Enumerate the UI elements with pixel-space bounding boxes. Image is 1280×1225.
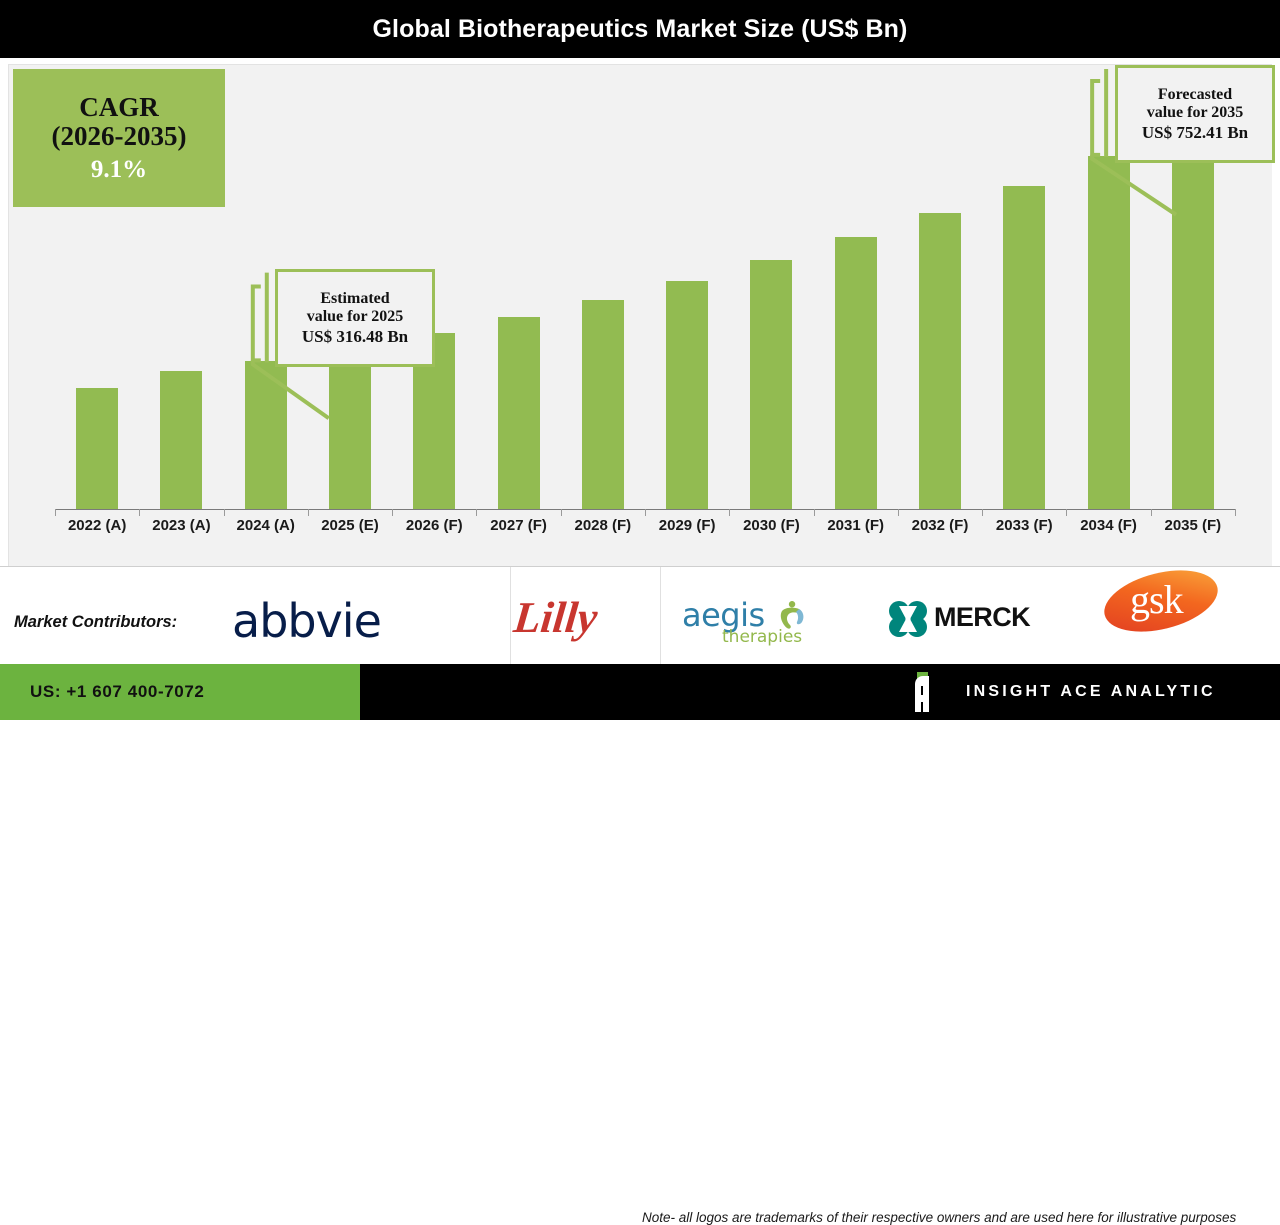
callout-forecast-line2: value for 2035 [1147,104,1244,123]
footer-phone-block: US: +1 607 400-7072 [0,664,360,720]
bar-2025E [329,348,371,509]
x-label-2030F: 2030 (F) [729,517,813,534]
logo-lilly: Lilly [512,596,600,640]
axis-tick [898,509,899,516]
merck-flower-icon [886,599,930,639]
footer-bar: US: +1 607 400-7072 INSIGHT ACE ANALYTIC [0,664,1280,720]
logo-aegis-therapies: aegis therapies [682,597,822,651]
x-label-2024A: 2024 (A) [224,517,308,534]
plot-area: 2022 (A)2023 (A)2024 (A)2025 (E)2026 (F)… [9,65,1272,566]
bar-2030F [750,260,792,509]
x-label-2034F: 2034 (F) [1066,517,1150,534]
x-label-2023A: 2023 (A) [139,517,223,534]
x-label-2033F: 2033 (F) [982,517,1066,534]
bar-2029F [666,281,708,509]
bar-2022A [76,388,118,509]
trademark-note: Note- all logos are trademarks of their … [642,1210,1236,1225]
callout-estimated-line3: US$ 316.48 Bn [302,327,408,347]
bar-2031F [835,237,877,509]
aegis-figure-icon [770,595,810,635]
x-label-2025E: 2025 (E) [308,517,392,534]
callout-estimated-line1: Estimated [320,290,389,309]
footer-brand: INSIGHT ACE ANALYTIC [900,664,1216,720]
axis-tick [1235,509,1236,516]
axis-tick [55,509,56,516]
axis-tick [729,509,730,516]
callout-forecast-line3: US$ 752.41 Bn [1142,123,1248,143]
bar-2028F [582,300,624,509]
axis-tick [392,509,393,516]
bar-2033F [1003,186,1045,509]
x-label-2032F: 2032 (F) [898,517,982,534]
market-contributors-label: Market Contributors: [14,613,177,632]
axis-tick [1151,509,1152,516]
axis-tick [1066,509,1067,516]
x-label-2031F: 2031 (F) [814,517,898,534]
axis-tick [476,509,477,516]
bar-2024A [245,361,287,509]
chart-panel: CAGR (2026-2035) 9.1% 2022 (A)2023 (A)20… [0,58,1280,566]
footer-brand-name: INSIGHT ACE ANALYTIC [966,683,1216,701]
callout-estimated-line2: value for 2025 [307,308,404,327]
logo-abbvie: abbvie [232,598,381,644]
x-label-2022A: 2022 (A) [55,517,139,534]
axis-tick [982,509,983,516]
logo-divider [660,567,661,665]
x-label-2027F: 2027 (F) [476,517,560,534]
merck-wordmark: MERCK [934,604,1030,631]
gsk-wordmark: gsk [1130,580,1183,620]
x-label-2029F: 2029 (F) [645,517,729,534]
page-title: Global Biotherapeutics Market Size (US$ … [373,15,908,44]
logo-gsk: gsk [1101,570,1221,632]
bar-2032F [919,213,961,509]
infographic-root: Global Biotherapeutics Market Size (US$ … [0,0,1280,720]
x-label-2035F: 2035 (F) [1151,517,1235,534]
axis-tick [308,509,309,516]
footer-phone[interactable]: US: +1 607 400-7072 [30,682,204,702]
callout-forecast-line1: Forecasted [1158,86,1232,105]
title-bar: Global Biotherapeutics Market Size (US$ … [0,0,1280,58]
axis-tick [224,509,225,516]
logo-divider [510,567,511,665]
insight-ace-logo-icon [900,670,944,714]
axis-tick [561,509,562,516]
bar-2034F [1088,156,1130,509]
bar-series [55,65,1235,509]
axis-tick [139,509,140,516]
x-label-2028F: 2028 (F) [561,517,645,534]
axis-tick [645,509,646,516]
callout-estimated-2025: Estimated value for 2025 US$ 316.48 Bn [275,269,435,367]
bar-2027F [498,317,540,509]
bar-2023A [160,371,202,509]
axis-tick [814,509,815,516]
chart-area: CAGR (2026-2035) 9.1% 2022 (A)2023 (A)20… [8,64,1272,566]
callout-forecast-2035: Forecasted value for 2035 US$ 752.41 Bn [1115,65,1275,163]
x-axis-labels: 2022 (A)2023 (A)2024 (A)2025 (E)2026 (F)… [55,517,1235,551]
logo-merck: MERCK [886,599,1036,643]
market-contributors-strip: Market Contributors: abbvie Lilly aegis … [0,566,1280,665]
x-label-2026F: 2026 (F) [392,517,476,534]
